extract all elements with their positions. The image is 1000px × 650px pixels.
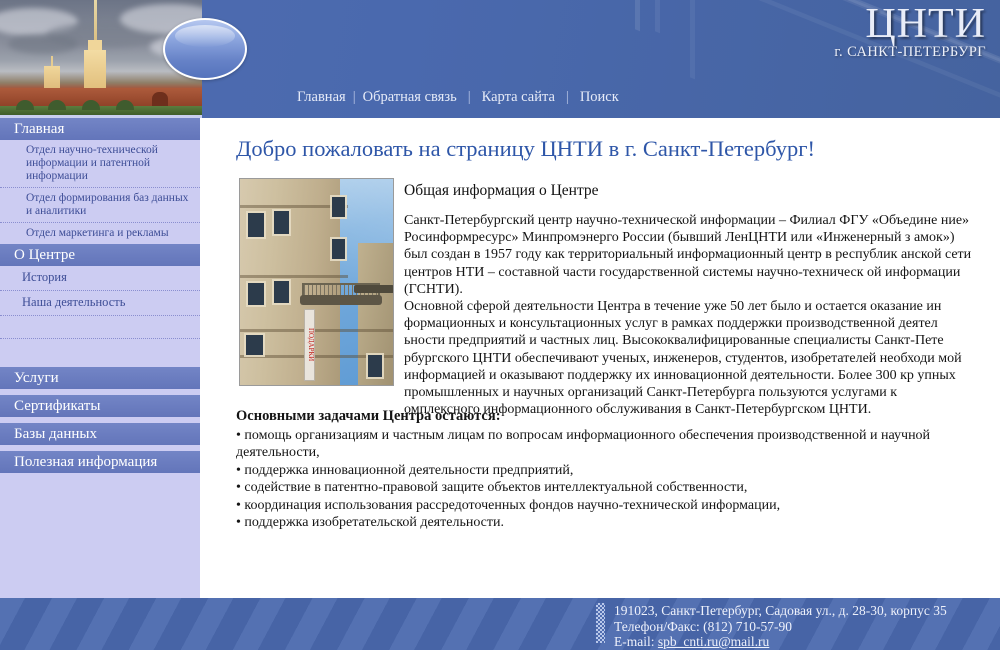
footer-phone: Телефон/Факс: (812) 710-57-90 xyxy=(614,619,947,635)
nav-separator: | xyxy=(556,89,579,105)
window-shape xyxy=(332,197,345,217)
window-shape xyxy=(248,213,264,237)
task-item: • координация использования рассредоточе… xyxy=(236,497,976,515)
nav-link-home[interactable]: Главная xyxy=(296,89,347,105)
sidebar-filler xyxy=(0,473,200,583)
sidebar-item-marketing-department[interactable]: Отдел маркетинга и рекламы xyxy=(0,223,200,244)
cornice-line xyxy=(239,329,394,332)
task-item: • содействие в патентно-правовой защите … xyxy=(236,479,976,497)
sidebar-section-glavnaya[interactable]: Главная xyxy=(0,118,204,140)
checkerboard-decor-icon xyxy=(596,603,605,643)
footer-email-row: E-mail: spb_cnti.ru@mail.ru xyxy=(614,634,947,650)
footer-contact-block: 191023, Санкт-Петербург, Садовая ул., д.… xyxy=(596,603,947,650)
site-logo: ЦНТИ г. САНКТ-ПЕТЕРБУРГ xyxy=(834,2,986,61)
nav-separator: | xyxy=(458,89,481,105)
sidebar-section-databases[interactable]: Базы данных xyxy=(0,423,204,445)
section-title: Общая информация о Центре xyxy=(404,182,599,200)
window-shape xyxy=(274,281,289,303)
footer-text: 191023, Санкт-Петербург, Садовая ул., д.… xyxy=(614,603,947,650)
window-shape xyxy=(248,283,264,305)
nav-link-feedback[interactable]: Обратная связь xyxy=(362,89,458,105)
sidebar-item-nti-department[interactable]: Отдел научно-технической информации и па… xyxy=(0,140,200,187)
paragraph-1: Санкт-Петербургский центр научно-техниче… xyxy=(404,212,974,298)
nav-link-sitemap[interactable]: Карта сайта xyxy=(481,89,556,105)
window-shape xyxy=(332,239,345,259)
page-root: ЦНТИ г. САНКТ-ПЕТЕРБУРГ Главная|Обратная… xyxy=(0,0,1000,650)
sidebar-menu: Главная Отдел научно-технической информа… xyxy=(0,118,204,583)
intro-text: Санкт-Петербургский центр научно-техниче… xyxy=(404,212,974,418)
task-item: • поддержка изобретательской деятельност… xyxy=(236,514,976,532)
footer-email-label: E-mail: xyxy=(614,634,655,649)
page-title: Добро пожаловать на страницу ЦНТИ в г. С… xyxy=(236,136,815,162)
content-photo-building: ПОДАРКИ xyxy=(239,178,394,386)
cloud-shape xyxy=(8,34,78,54)
sidebar-section-services[interactable]: Услуги xyxy=(0,367,204,389)
balcony-slab-right xyxy=(354,285,394,293)
nav-link-search[interactable]: Поиск xyxy=(579,89,620,105)
logo-title: ЦНТИ xyxy=(834,2,986,46)
tasks-title: Основными задачами Центра остаются: xyxy=(236,408,976,426)
sidebar-section-useful-info[interactable]: Полезная информация xyxy=(0,451,204,473)
sidebar: Главная Отдел научно-технической информа… xyxy=(0,118,204,598)
sidebar-section-certificates[interactable]: Сертификаты xyxy=(0,395,204,417)
logo-subtitle: г. САНКТ-ПЕТЕРБУРГ xyxy=(834,44,986,61)
nav-separator: | xyxy=(347,89,362,105)
task-item: • поддержка инновационной деятельности п… xyxy=(236,462,976,480)
sidebar-item-database-department[interactable]: Отдел формирования баз данных и аналитик… xyxy=(0,188,200,222)
sidebar-item-blank[interactable] xyxy=(0,339,200,361)
cathedral-tower xyxy=(84,50,106,92)
sidebar-section-about-center[interactable]: О Центре xyxy=(0,244,204,266)
balcony-slab xyxy=(300,295,382,305)
footer-email-link[interactable]: spb_cnti.ru@mail.ru xyxy=(658,634,769,649)
sidebar-item-history[interactable]: История xyxy=(0,266,200,290)
window-shape xyxy=(274,211,289,234)
sidebar-item-blank[interactable] xyxy=(0,316,200,338)
site-footer: 191023, Санкт-Петербург, Садовая ул., д.… xyxy=(0,598,1000,650)
sidebar-item-our-activity[interactable]: Наша деятельность xyxy=(0,291,200,315)
tasks-block: Основными задачами Центра остаются: • по… xyxy=(236,408,976,532)
paragraph-2: Основной сферой деятельности Центра в те… xyxy=(404,298,974,418)
top-navigation: Главная|Обратная связь|Карта сайта|Поиск xyxy=(296,89,620,106)
glossy-orb-icon xyxy=(163,18,247,80)
window-shape xyxy=(246,335,263,355)
footer-address: 191023, Санкт-Петербург, Садовая ул., д.… xyxy=(614,603,947,619)
site-header: ЦНТИ г. САНКТ-ПЕТЕРБУРГ Главная|Обратная… xyxy=(0,0,1000,118)
vertical-shop-sign: ПОДАРКИ xyxy=(304,309,315,381)
main-content: Добро пожаловать на страницу ЦНТИ в г. С… xyxy=(204,118,1000,598)
cornice-line xyxy=(239,275,348,278)
tasks-list: • помощь организациям и частным лицам по… xyxy=(236,427,976,532)
task-item: • помощь организациям и частным лицам по… xyxy=(236,427,976,462)
window-shape xyxy=(368,355,382,377)
